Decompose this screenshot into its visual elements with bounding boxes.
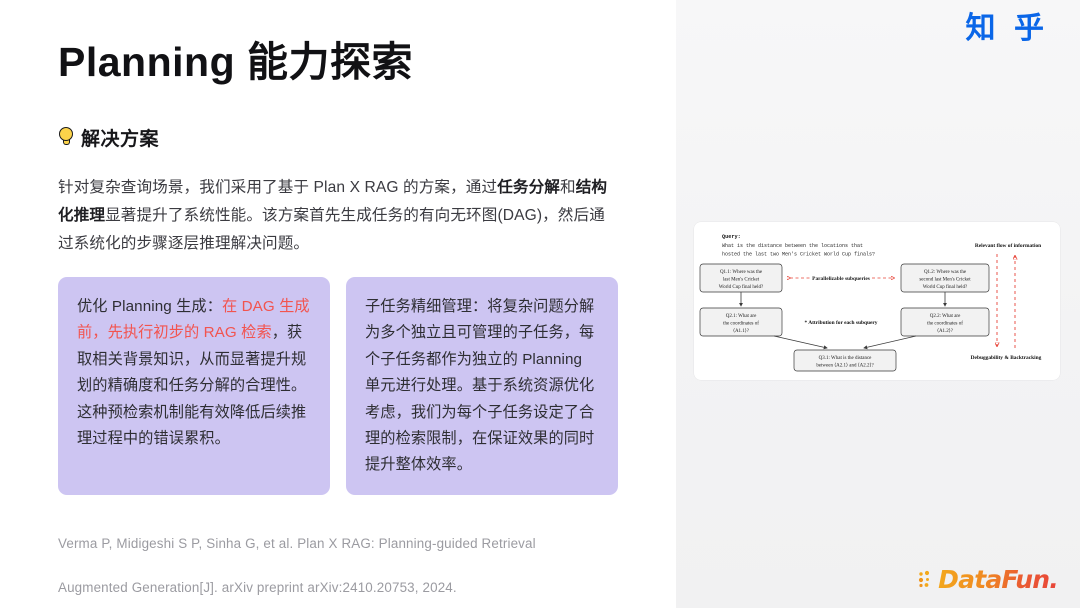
node-q11-line3: World Cup final held?	[719, 285, 764, 290]
node-q21-line2: the coordinates of	[723, 322, 759, 327]
node-q11-line2: last Men's Cricket	[723, 278, 760, 283]
section-title: 解决方案	[81, 124, 159, 151]
card-right-text: 子任务精细管理：将复杂问题分解为多个独立且可管理的子任务，每个子任务都作为独立的…	[365, 298, 594, 473]
diagram-query-line1: What is the distance between the locatio…	[722, 243, 863, 249]
diagram-query-line2: hosted the last two Men's Cricket World …	[722, 252, 875, 258]
diagram-query-label: Query:	[722, 234, 741, 240]
diagram-node-q22: Q2.2: What are the coordinates of ⟨A1.2⟩…	[901, 308, 989, 336]
diagram-node-q21: Q2.1: What are the coordinates of ⟨A1.1⟩…	[700, 308, 782, 336]
node-q22-line2: the coordinates of	[927, 322, 963, 327]
slide-root: 知 乎 Planning 能力探索 解决方案 针对复杂查询场景，我们采用了基于 …	[0, 0, 1080, 608]
lightbulb-icon	[58, 127, 74, 149]
diagram-svg: Query: What is the distance between the …	[694, 222, 1060, 380]
node-q22-line3: ⟨A1.2⟩?	[937, 328, 954, 334]
node-q22-line1: Q2.2: What are	[930, 314, 961, 319]
node-q11-line1: Q1.1: Where was the	[720, 270, 763, 275]
node-q31-line2: between ⟨A2.1⟩ and ⟨A2.2⟩?	[816, 363, 874, 369]
annotation-parallelizable-text: Parallelizable subqueries	[812, 276, 870, 282]
annotation-attribution-text: * Attribution for each subquery	[805, 320, 878, 326]
diagram-node-q11: Q1.1: Where was the last Men's Cricket W…	[700, 264, 782, 292]
body-paragraph: 针对复杂查询场景，我们采用了基于 Plan X RAG 的方案，通过任务分解和结…	[58, 174, 614, 258]
annotation-relevant-flow-text: Relevant flow of information	[975, 243, 1041, 249]
node-q12-line2: second last Men's Cricket	[919, 278, 971, 283]
annotation-debuggability-text: Debuggability & Backtracking	[971, 355, 1042, 361]
citation-line-2: Augmented Generation[J]. arXiv preprint …	[58, 580, 457, 595]
card-left-suffix: ，获取相关背景知识，从而显著提升规划的精确度和任务分解的合理性。这种预检索机制能…	[77, 324, 306, 447]
node-q12-line1: Q1.2: Where was the	[924, 270, 967, 275]
diagram-annotation-parallelizable: Parallelizable subqueries	[790, 276, 894, 282]
zhihu-logo: 知 乎	[966, 14, 1048, 44]
optimize-planning-card: 优化 Planning 生成：在 DAG 生成前，先执行初步的 RAG 检索，获…	[58, 277, 330, 495]
datafun-wordmark: DataFun.	[938, 567, 1058, 592]
node-q21-line3: ⟨A1.1⟩?	[733, 328, 750, 334]
card-left-prefix: 优化 Planning 生成：	[77, 298, 222, 315]
subtask-management-card: 子任务精细管理：将复杂问题分解为多个独立且可管理的子任务，每个子任务都作为独立的…	[346, 277, 618, 495]
node-q12-line3: World Cup final held?	[923, 285, 968, 290]
citation-line-1: Verma P, Midigeshi S P, Sinha G, et al. …	[58, 536, 536, 551]
datafun-logo: DataFun.	[918, 566, 1058, 592]
diagram-node-q12: Q1.2: Where was the second last Men's Cr…	[901, 264, 989, 292]
page-title: Planning 能力探索	[58, 28, 413, 88]
node-q21-line1: Q2.1: What are	[726, 314, 757, 319]
plan-x-rag-diagram: Query: What is the distance between the …	[694, 222, 1060, 380]
section-header: 解决方案	[58, 124, 159, 151]
diagram-node-q31: Q3.1: What is the distance between ⟨A2.1…	[794, 350, 896, 371]
node-q31-line1: Q3.1: What is the distance	[819, 356, 873, 361]
datafun-dots-icon	[918, 569, 935, 589]
diagram-flow-arrows: Relevant flow of information Debuggabili…	[971, 243, 1042, 361]
